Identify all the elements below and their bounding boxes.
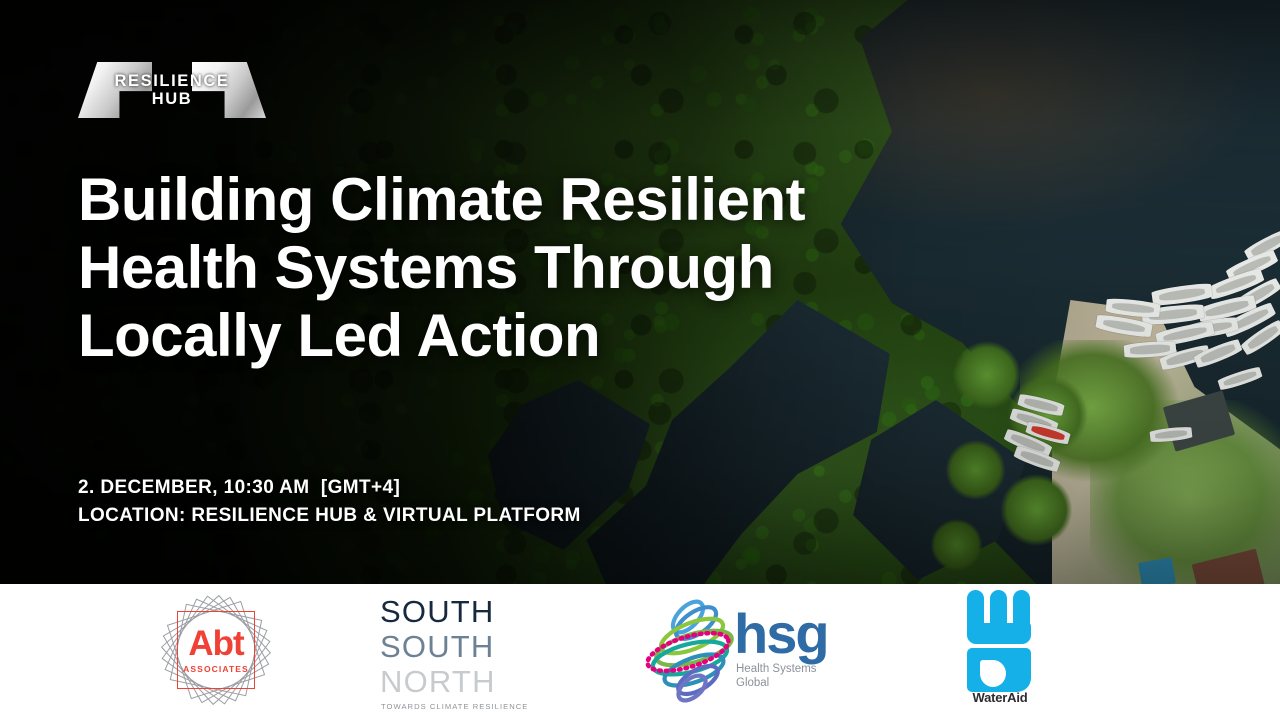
- partner-logo-wateraid: WaterAid: [945, 584, 1055, 720]
- abt-wordmark: Abt: [152, 626, 280, 661]
- logo-line-1: RESILIENCE: [114, 73, 229, 90]
- event-location: LOCATION: RESILIENCE HUB & VIRTUAL PLATF…: [78, 502, 581, 530]
- wateraid-wordmark: WaterAid: [945, 690, 1055, 705]
- wateraid-hand: [967, 590, 1031, 644]
- partner-logo-abt-associates: Abt ASSOCIATES: [152, 584, 280, 720]
- event-title-line-3: Locally Led Action: [78, 302, 838, 370]
- hsg-subtitle: Health Systems Global: [736, 662, 817, 690]
- event-datetime: 2. DECEMBER, 10:30 AM [GMT+4]: [78, 474, 581, 502]
- partner-logo-bar: Abt ASSOCIATES SOUTH SOUTH NORTH TOWARDS…: [0, 584, 1280, 720]
- hsg-wordmark: hsg: [734, 606, 828, 662]
- shed-roof-3: [1138, 557, 1176, 584]
- wateraid-hand-drop-icon: [959, 590, 1041, 690]
- event-title-line-2: Health Systems Through: [78, 234, 838, 302]
- abt-subtitle: ASSOCIATES: [152, 664, 280, 674]
- partner-logo-south-south-north: SOUTH SOUTH NORTH TOWARDS CLIMATE RESILI…: [380, 584, 560, 720]
- hsg-subtitle-line-2: Global: [736, 676, 817, 690]
- partner-logo-health-systems-global: hsg Health Systems Global: [626, 584, 861, 720]
- event-title-line-1: Building Climate Resilient: [78, 166, 838, 234]
- wateraid-droplet: [980, 660, 1006, 687]
- ssn-line-3: NORTH: [380, 666, 560, 697]
- event-details: 2. DECEMBER, 10:30 AM [GMT+4] LOCATION: …: [78, 474, 581, 529]
- hsg-subtitle-line-1: Health Systems: [736, 662, 817, 676]
- ssn-line-2: SOUTH: [380, 631, 560, 662]
- resilience-hub-logo: RESILIENCE HUB: [78, 62, 266, 118]
- logo-line-2: HUB: [152, 91, 193, 108]
- event-banner-slide: RESILIENCE HUB Building Climate Resilien…: [0, 0, 1280, 720]
- hsg-spiral-icon: [634, 594, 746, 706]
- event-title: Building Climate Resilient Health System…: [78, 166, 838, 369]
- logo-wordmark: RESILIENCE HUB: [78, 62, 266, 118]
- ssn-tagline: TOWARDS CLIMATE RESILIENCE: [381, 702, 528, 711]
- ssn-line-1: SOUTH: [380, 596, 560, 627]
